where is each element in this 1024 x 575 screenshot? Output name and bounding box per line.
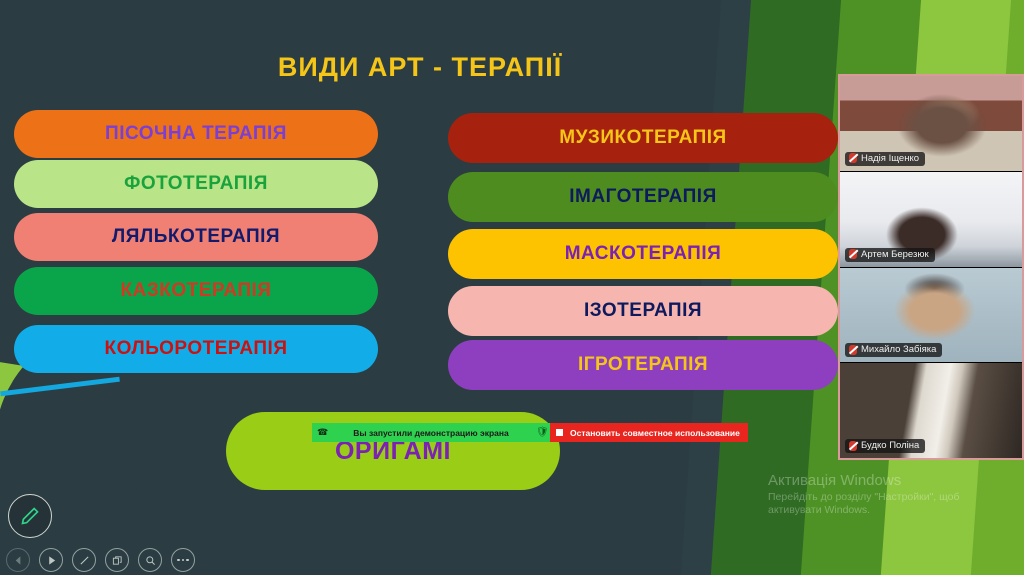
therapy-pill-color[interactable]: КОЛЬОРОТЕРАПІЯ <box>14 325 378 373</box>
screen-share-toolbar: ☎ Вы запустили демонстрацию экрана 🛡 Ост… <box>312 423 748 442</box>
therapy-pill-label: КАЗКОТЕРАПІЯ <box>121 280 272 302</box>
therapy-pill-label: ІЗОТЕРАПІЯ <box>584 300 702 322</box>
participant-name-badge: Надія Іщенко <box>845 152 925 166</box>
presentation-screen: ВИДИ АРТ - ТЕРАПІЇ ПІСОЧНА ТЕРАПІЯ ФОТОТ… <box>0 0 1024 575</box>
video-tile[interactable]: Будко Поліна <box>840 363 1022 458</box>
video-tile[interactable]: Надія Іщенко <box>840 76 1022 172</box>
therapy-pill-label: ЛЯЛЬКОТЕРАПІЯ <box>112 226 280 248</box>
therapy-pill-label: ПІСОЧНА ТЕРАПІЯ <box>105 123 287 145</box>
participant-name: Артем Березюк <box>861 249 929 260</box>
therapy-pill-fairytale[interactable]: КАЗКОТЕРАПІЯ <box>14 267 378 315</box>
play-button[interactable] <box>39 548 63 572</box>
play-icon <box>46 555 57 566</box>
video-tile[interactable]: Михайло Забіяка <box>840 268 1022 364</box>
search-icon <box>145 555 156 566</box>
participant-name: Будко Поліна <box>861 440 919 451</box>
stop-square-icon <box>556 429 563 436</box>
therapy-pill-sand[interactable]: ПІСОЧНА ТЕРАПІЯ <box>14 110 378 158</box>
therapy-pill-mask[interactable]: МАСКОТЕРАПІЯ <box>448 229 838 279</box>
zoom-search-button[interactable] <box>138 548 162 572</box>
previous-slide-button[interactable] <box>6 548 30 572</box>
more-options-button[interactable] <box>171 548 195 572</box>
therapy-pill-imago[interactable]: ІМАГОТЕРАПІЯ <box>448 172 838 222</box>
participant-name-badge: Михайло Забіяка <box>845 343 942 357</box>
mic-muted-icon <box>849 153 857 163</box>
therapy-pill-puppet[interactable]: ЛЯЛЬКОТЕРАПІЯ <box>14 213 378 261</box>
participant-name: Михайло Забіяка <box>861 344 936 355</box>
therapy-pill-play[interactable]: ІГРОТЕРАПІЯ <box>448 340 838 390</box>
therapy-pill-label: КОЛЬОРОТЕРАПІЯ <box>105 338 288 360</box>
slide-thumbnails-button[interactable] <box>105 548 129 572</box>
mic-muted-icon <box>849 345 857 355</box>
page-title: ВИДИ АРТ - ТЕРАПІЇ <box>0 52 840 83</box>
pen-icon <box>79 555 90 566</box>
participant-name: Надія Іщенко <box>861 153 919 164</box>
video-tile[interactable]: Артем Березюк <box>840 172 1022 268</box>
presentation-toolbar <box>6 548 195 572</box>
participant-name-badge: Артем Березюк <box>845 248 935 262</box>
therapy-pill-label: ФОТОТЕРАПІЯ <box>124 173 268 195</box>
participant-name-badge: Будко Поліна <box>845 439 925 453</box>
therapy-pill-label: МАСКОТЕРАПІЯ <box>565 243 722 265</box>
therapy-pill-label: ІМАГОТЕРАПІЯ <box>569 186 716 208</box>
therapy-pill-music[interactable]: МУЗИКОТЕРАПІЯ <box>448 113 838 163</box>
arrow-left-icon <box>13 555 24 566</box>
thumbnails-icon <box>112 555 123 566</box>
therapy-pill-label: МУЗИКОТЕРАПІЯ <box>559 127 726 149</box>
screen-share-status[interactable]: ☎ Вы запустили демонстрацию экрана 🛡 <box>312 423 550 442</box>
video-participants-panel: Надія Іщенко Артем Березюк Михайло Забія… <box>838 74 1024 460</box>
mic-muted-icon <box>849 249 857 259</box>
mic-muted-icon <box>849 441 857 451</box>
ellipsis-icon <box>177 559 189 562</box>
shield-icon: 🛡 <box>536 428 545 437</box>
screen-share-status-label: Вы запустили демонстрацию экрана <box>326 428 536 438</box>
stop-sharing-button[interactable]: Остановить совместное использование <box>550 423 748 442</box>
phone-icon: ☎ <box>317 428 326 437</box>
stop-sharing-label: Остановить совместное использование <box>570 428 740 438</box>
therapy-pill-iso[interactable]: ІЗОТЕРАПІЯ <box>448 286 838 336</box>
pen-tool-fab[interactable] <box>8 494 52 538</box>
therapy-pill-photo[interactable]: ФОТОТЕРАПІЯ <box>14 160 378 208</box>
annotate-button[interactable] <box>72 548 96 572</box>
therapy-pill-label: ІГРОТЕРАПІЯ <box>578 354 708 376</box>
pen-icon <box>20 506 40 526</box>
